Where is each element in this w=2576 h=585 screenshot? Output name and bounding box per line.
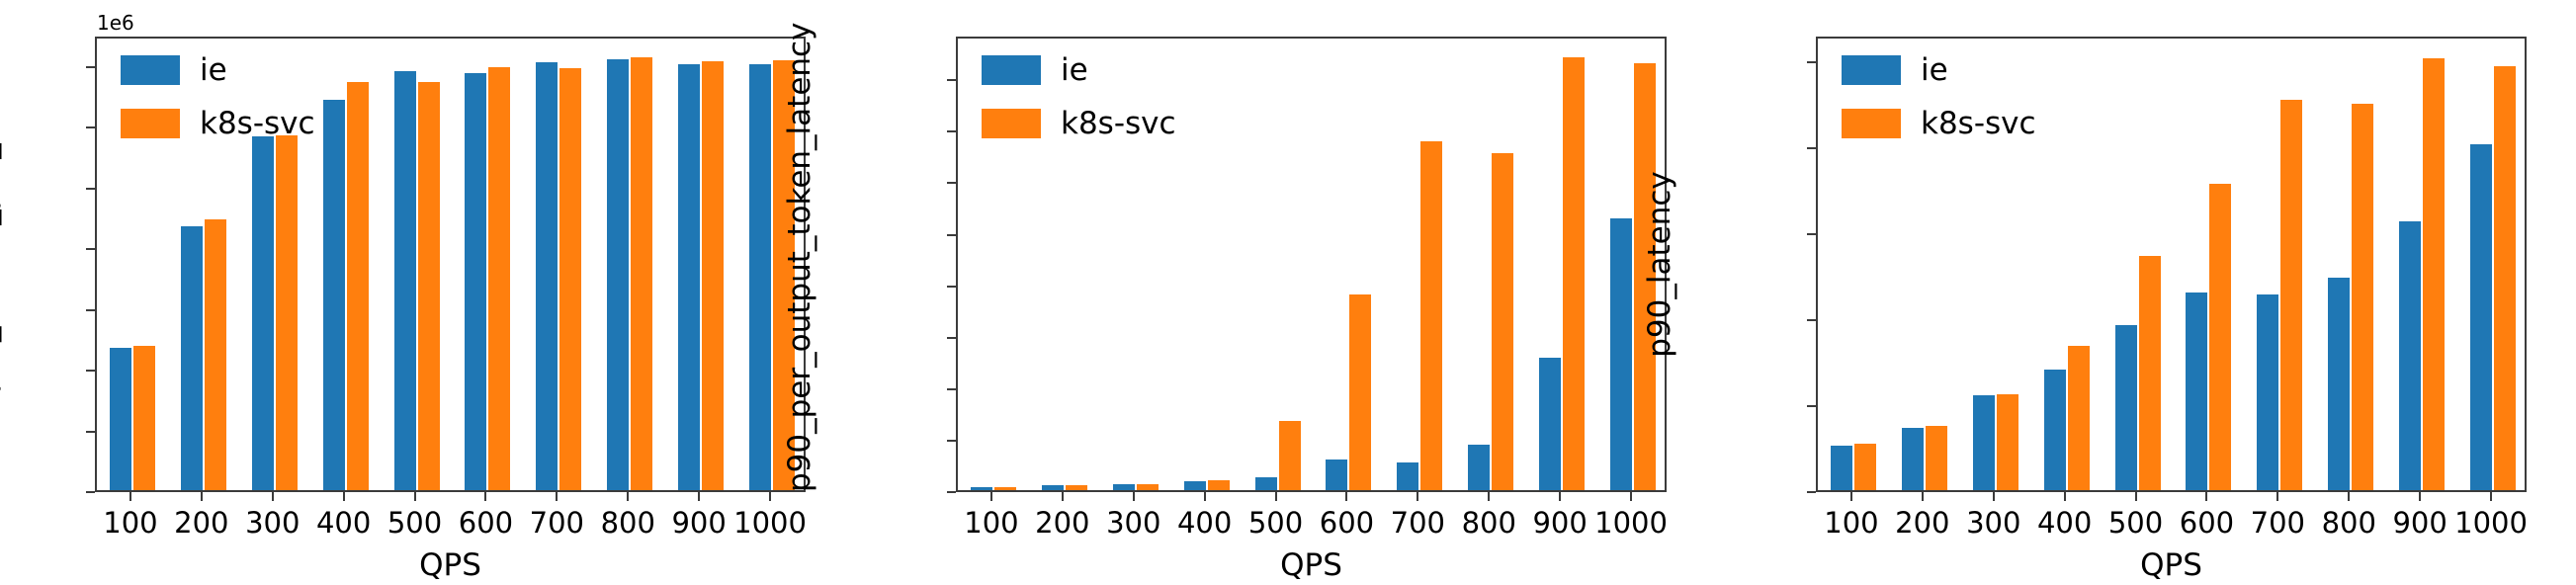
x-tick-mark — [129, 492, 131, 501]
y-tick-mark — [86, 431, 95, 433]
bar-ie-500 — [394, 71, 416, 490]
legend-label: ie — [1061, 55, 1088, 86]
legend-swatch-k8s-svc — [982, 109, 1041, 138]
x-tick-mark — [698, 492, 700, 501]
y-tick-mark — [947, 337, 956, 339]
bar-k8s-svc-600 — [1349, 294, 1371, 490]
x-tick-label: 1000 — [2442, 506, 2540, 540]
y-tick-mark — [86, 309, 95, 311]
bar-k8s-svc-900 — [1563, 57, 1585, 490]
x-tick-mark — [1922, 492, 1924, 501]
y-tick-mark — [86, 188, 95, 190]
bar-ie-900 — [678, 64, 700, 490]
bar-k8s-svc-400 — [2068, 346, 2090, 490]
x-tick-label: 1000 — [721, 506, 819, 540]
legend-label: k8s-svc — [1921, 109, 2036, 139]
bar-k8s-svc-300 — [1997, 394, 2018, 490]
y-tick-mark — [947, 182, 956, 184]
y-tick-mark — [947, 491, 956, 493]
legend-swatch-k8s-svc — [1842, 109, 1901, 138]
x-tick-mark — [2064, 492, 2066, 501]
x-tick-mark — [2276, 492, 2278, 501]
legend-swatch-ie — [982, 55, 1041, 85]
legend-item-ie[interactable]: ie — [982, 50, 1176, 90]
bar-ie-100 — [110, 348, 131, 490]
y-tick-mark — [947, 234, 956, 236]
bar-ie-500 — [2115, 325, 2137, 490]
bar-k8s-svc-700 — [2280, 100, 2302, 490]
y-tick-mark — [947, 130, 956, 132]
bar-k8s-svc-400 — [347, 82, 369, 490]
y-tick-mark — [86, 248, 95, 250]
bar-k8s-svc-300 — [1137, 484, 1159, 490]
y-tick-mark — [86, 370, 95, 372]
x-tick-mark — [201, 492, 203, 501]
x-tick-mark — [556, 492, 558, 501]
y-axis-offset-text: 1e6 — [97, 11, 134, 35]
bar-k8s-svc-500 — [2139, 256, 2161, 490]
bar-ie-200 — [181, 226, 203, 490]
legend: iek8s-svc — [1842, 50, 2036, 157]
y-tick-mark — [86, 126, 95, 128]
bar-ie-700 — [536, 62, 558, 490]
x-tick-mark — [272, 492, 274, 501]
legend-item-k8s-svc[interactable]: k8s-svc — [982, 104, 1176, 143]
bar-ie-900 — [1539, 358, 1561, 490]
bar-k8s-svc-200 — [1066, 485, 1087, 490]
bar-ie-800 — [1468, 445, 1490, 490]
bar-k8s-svc-200 — [205, 219, 226, 490]
x-tick-mark — [2135, 492, 2137, 501]
bar-ie-1000 — [2470, 144, 2492, 490]
y-axis-label: p90_latency — [1642, 37, 1677, 492]
x-tick-mark — [1062, 492, 1064, 501]
x-tick-mark — [484, 492, 486, 501]
bar-k8s-svc-600 — [2209, 184, 2231, 490]
x-tick-mark — [343, 492, 345, 501]
legend-item-k8s-svc[interactable]: k8s-svc — [1842, 104, 2036, 143]
x-axis-label: QPS — [95, 547, 806, 583]
legend-item-k8s-svc[interactable]: k8s-svc — [121, 104, 315, 143]
bar-ie-100 — [1831, 446, 1852, 490]
legend-swatch-ie — [121, 55, 180, 85]
bar-k8s-svc-600 — [488, 67, 510, 490]
y-tick-mark — [1807, 491, 1816, 493]
legend-swatch-ie — [1842, 55, 1901, 85]
bar-ie-200 — [1902, 428, 1924, 490]
bar-ie-400 — [2044, 370, 2066, 490]
y-tick-mark — [947, 286, 956, 288]
bar-k8s-svc-700 — [559, 68, 581, 490]
x-tick-mark — [2419, 492, 2421, 501]
bar-ie-500 — [1255, 477, 1277, 490]
x-tick-mark — [2348, 492, 2350, 501]
bar-ie-600 — [465, 73, 486, 490]
x-tick-mark — [1559, 492, 1561, 501]
x-tick-label: 1000 — [1582, 506, 1680, 540]
y-tick-mark — [947, 440, 956, 442]
bar-ie-600 — [1326, 460, 1347, 490]
bar-ie-900 — [2399, 221, 2421, 490]
x-tick-mark — [1488, 492, 1490, 501]
legend-label: ie — [1921, 55, 1948, 86]
x-axis-label: QPS — [1816, 547, 2527, 583]
x-tick-mark — [1993, 492, 1995, 501]
x-tick-mark — [1630, 492, 1632, 501]
y-tick-mark — [1807, 147, 1816, 149]
y-tick-mark — [1807, 61, 1816, 63]
bar-ie-300 — [1113, 484, 1135, 491]
bar-k8s-svc-800 — [2352, 104, 2373, 490]
bar-ie-400 — [1184, 481, 1206, 490]
bar-ie-800 — [607, 59, 629, 490]
y-tick-mark — [947, 388, 956, 390]
bar-k8s-svc-800 — [1492, 153, 1513, 490]
x-tick-mark — [2490, 492, 2492, 501]
bar-k8s-svc-400 — [1208, 480, 1230, 490]
bar-k8s-svc-100 — [994, 487, 1016, 490]
bar-k8s-svc-500 — [1279, 421, 1301, 490]
bar-ie-100 — [971, 487, 992, 490]
legend-label: k8s-svc — [200, 109, 315, 139]
bar-k8s-svc-700 — [1420, 141, 1442, 490]
legend-swatch-k8s-svc — [121, 109, 180, 138]
bar-ie-1000 — [1610, 218, 1632, 490]
y-tick-mark — [947, 79, 956, 81]
x-tick-mark — [1345, 492, 1347, 501]
bar-ie-200 — [1042, 485, 1064, 490]
figure-canvas: 0.00.51.01.52.02.53.03.51002003004005006… — [0, 0, 2576, 585]
x-tick-mark — [627, 492, 629, 501]
x-tick-mark — [1204, 492, 1206, 501]
bar-k8s-svc-500 — [418, 82, 440, 490]
bar-ie-600 — [2186, 292, 2207, 490]
legend-item-ie[interactable]: ie — [121, 50, 315, 90]
x-tick-mark — [2205, 492, 2207, 501]
y-axis-label: output_tokens_per_min — [0, 37, 2, 492]
bar-k8s-svc-100 — [1854, 444, 1876, 490]
bar-ie-800 — [2328, 278, 2350, 490]
legend-label: ie — [200, 55, 227, 86]
y-axis-label: p90_per_output_token_latency — [782, 37, 817, 492]
bar-k8s-svc-300 — [276, 135, 298, 490]
x-tick-mark — [414, 492, 416, 501]
bar-k8s-svc-1000 — [2494, 66, 2516, 490]
x-tick-mark — [990, 492, 992, 501]
y-tick-mark — [1807, 233, 1816, 235]
x-tick-mark — [1275, 492, 1277, 501]
x-tick-mark — [1850, 492, 1852, 501]
bar-ie-700 — [1397, 462, 1418, 490]
bar-k8s-svc-900 — [702, 61, 724, 490]
x-tick-mark — [769, 492, 771, 501]
bar-ie-300 — [1973, 395, 1995, 490]
bar-k8s-svc-100 — [133, 346, 155, 490]
y-tick-mark — [86, 66, 95, 68]
x-tick-mark — [1133, 492, 1135, 501]
x-axis-label: QPS — [956, 547, 1667, 583]
x-tick-mark — [1417, 492, 1418, 501]
legend: iek8s-svc — [982, 50, 1176, 157]
y-tick-mark — [86, 491, 95, 493]
y-tick-mark — [1807, 319, 1816, 321]
bar-k8s-svc-900 — [2423, 58, 2445, 491]
bar-ie-700 — [2257, 294, 2278, 490]
legend-item-ie[interactable]: ie — [1842, 50, 2036, 90]
legend: iek8s-svc — [121, 50, 315, 157]
bar-ie-1000 — [749, 64, 771, 490]
y-tick-mark — [1807, 405, 1816, 407]
legend-label: k8s-svc — [1061, 109, 1176, 139]
bar-ie-300 — [252, 136, 274, 490]
bar-k8s-svc-200 — [1926, 426, 1947, 490]
bar-k8s-svc-800 — [631, 57, 652, 490]
bar-ie-400 — [323, 100, 345, 490]
